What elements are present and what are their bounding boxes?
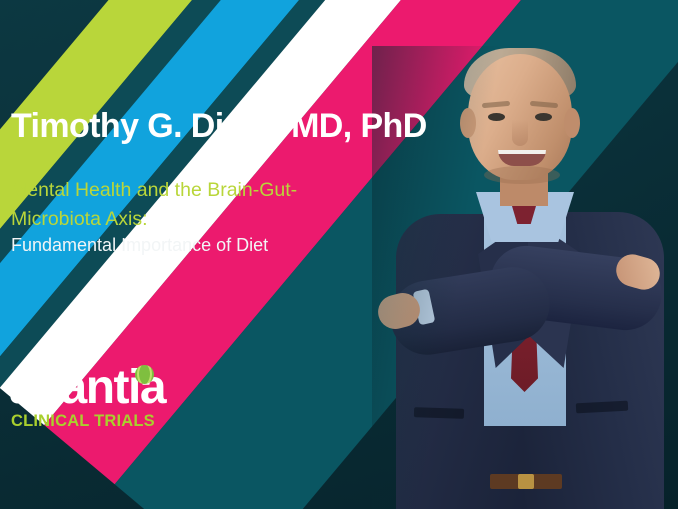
- atlantia-logo: atlantia CLINICAL TRIALS: [9, 363, 209, 438]
- ear-left: [460, 108, 476, 138]
- talk-title-line-2: Microbiota Axis:: [11, 208, 148, 230]
- logo-tagline: CLINICAL TRIALS: [11, 412, 155, 431]
- eye-left: [488, 113, 505, 121]
- jacket-pocket-left: [414, 407, 464, 419]
- nose: [512, 120, 528, 146]
- speaker-name: Timothy G. Dinan MD, PhD: [11, 107, 427, 146]
- eye-right: [535, 113, 552, 121]
- belt-buckle: [518, 474, 534, 489]
- leaf-circle-icon: [135, 365, 154, 384]
- talk-title: Mental Health and the Brain-Gut- Microbi…: [11, 176, 371, 234]
- ear-right: [564, 108, 580, 138]
- presentation-slide: Timothy G. Dinan MD, PhD Mental Health a…: [0, 0, 678, 509]
- talk-subtitle: Fundamental Importance of Diet: [11, 235, 268, 256]
- talk-title-line-1: Mental Health and the Brain-Gut-: [11, 179, 297, 201]
- chin-shadow: [484, 166, 560, 184]
